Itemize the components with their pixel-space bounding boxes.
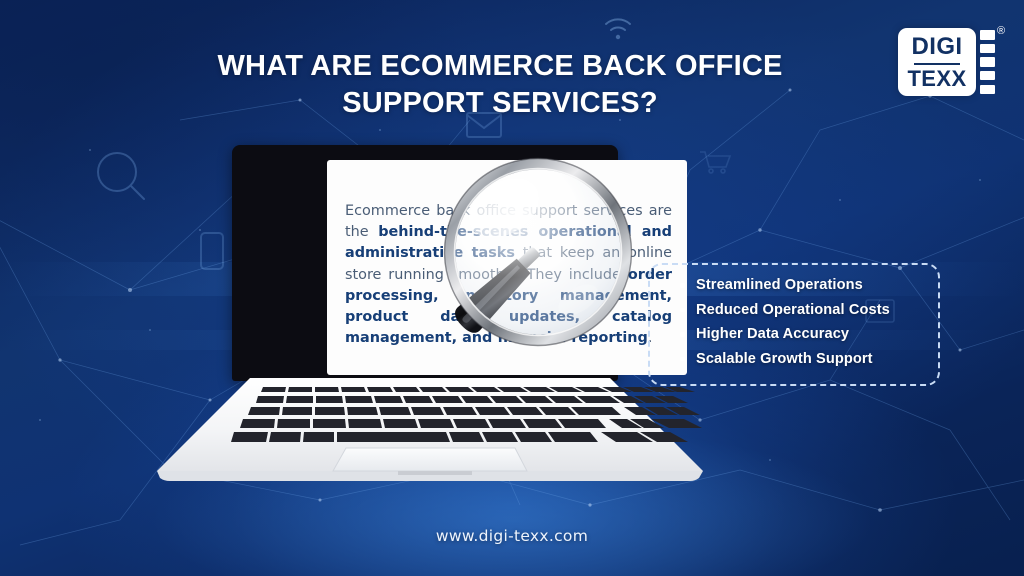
benefits-callout-box: Streamlined Operations Reduced Operation…	[648, 263, 940, 386]
digitexx-logo[interactable]: DIGI TEXX ®	[898, 24, 1006, 100]
laptop-base	[150, 378, 710, 482]
logo-perforation	[980, 57, 995, 67]
logo-plate: DIGI TEXX	[898, 28, 976, 96]
magnifying-glass	[438, 152, 668, 387]
list-item: Streamlined Operations	[680, 278, 938, 293]
logo-perforation	[980, 85, 995, 95]
page-title: WHAT ARE ECOMMERCE BACK OFFICE SUPPORT S…	[150, 48, 850, 121]
logo-text-texx: TEXX	[907, 68, 966, 90]
slide-canvas: DIGI TEXX ® WHAT ARE ECOMMERCE BACK OFFI…	[0, 0, 1024, 576]
background-magnifier-icon	[98, 153, 144, 199]
logo-perforation-strip	[980, 30, 995, 94]
footer-website-url[interactable]: www.digi-texx.com	[0, 527, 1024, 545]
logo-text-digi: DIGI	[912, 35, 963, 62]
benefits-list: Streamlined Operations Reduced Operation…	[680, 278, 938, 366]
background-wifi-icon	[606, 19, 630, 39]
list-item: Reduced Operational Costs	[680, 303, 938, 318]
list-item: Scalable Growth Support	[680, 352, 938, 367]
registered-trademark-mark: ®	[997, 26, 1005, 37]
logo-perforation	[980, 44, 995, 54]
logo-divider	[914, 63, 960, 65]
laptop-keyboard-and-deck	[150, 378, 710, 482]
logo-perforation	[980, 71, 995, 81]
logo-perforation	[980, 30, 995, 40]
list-item: Higher Data Accuracy	[680, 327, 938, 342]
